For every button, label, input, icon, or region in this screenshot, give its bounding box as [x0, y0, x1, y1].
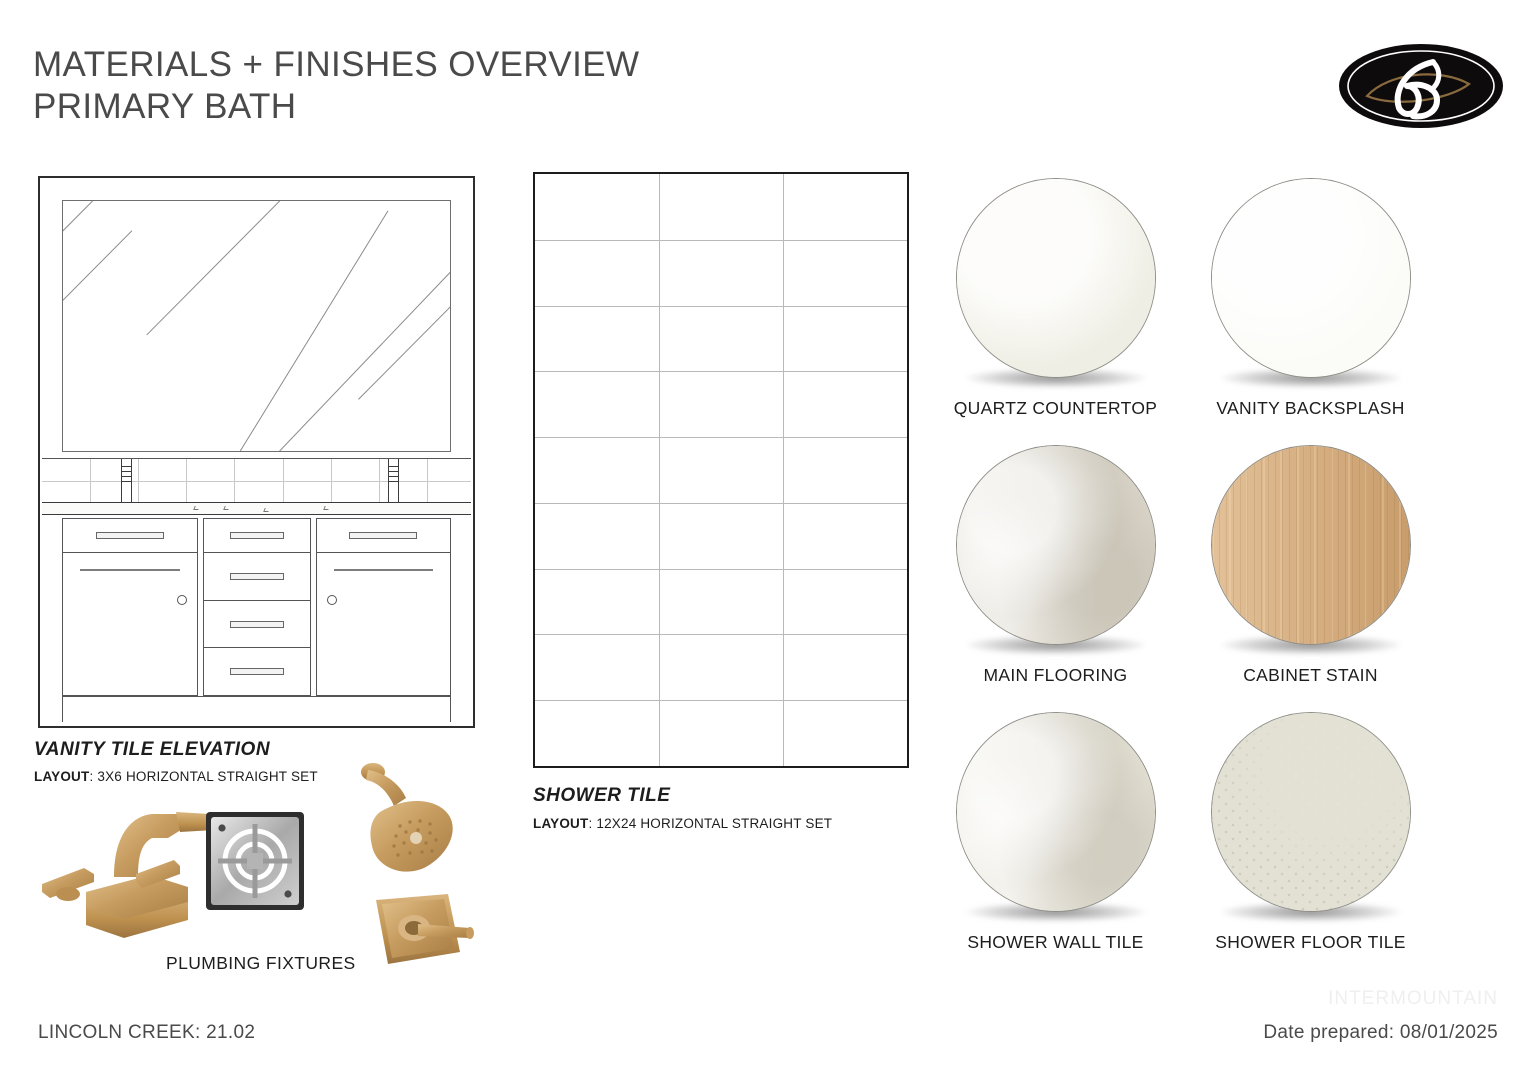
- shower-layout-note: LAYOUT: 12X24 HORIZONTAL STRAIGHT SET: [533, 816, 832, 831]
- swatch-shower-wall-tile-disc[interactable]: [956, 712, 1156, 912]
- swatch-texture: [957, 446, 1155, 644]
- shower-grout-line: [535, 634, 907, 635]
- shower-grout-line: [535, 371, 907, 372]
- swatch-texture: [1212, 179, 1410, 377]
- shower-valve-trim: [376, 894, 474, 964]
- shower-grout-line: [535, 503, 907, 504]
- cabinet-left: [62, 518, 198, 696]
- center-drawer-4: [204, 648, 310, 695]
- shower-tile-drawing: SHOWER TILE LAYOUT: 12X24 HORIZONTAL STR…: [533, 172, 909, 768]
- elevation-frame: [38, 176, 475, 728]
- brand-oval-logo: [1337, 42, 1505, 130]
- swatch-shower-wall-tile-label: SHOWER WALL TILE: [967, 932, 1143, 953]
- backsplash-grout-line: [138, 459, 139, 503]
- swatch-shower-floor-tile-circle-wrap: [1211, 712, 1411, 924]
- faucet-elevation-right: [388, 458, 399, 504]
- swatch-texture: [1212, 446, 1410, 644]
- shower-tile-frame: [533, 172, 909, 768]
- shower-caption: SHOWER TILE: [533, 785, 670, 807]
- shower-grout-line: [659, 174, 660, 766]
- faucet-elevation-left: [121, 458, 132, 504]
- swatch-cabinet-stain-disc[interactable]: [1211, 445, 1411, 645]
- swatch-texture: [957, 179, 1155, 377]
- plumbing-fixtures-label: PLUMBING FIXTURES: [166, 953, 356, 974]
- shower-grout-line: [535, 700, 907, 701]
- backsplash-grout-line: [42, 481, 471, 482]
- swatch-texture: [957, 713, 1155, 911]
- cabinet-center-drawer-stack: [203, 518, 311, 696]
- vanity-mirror: [62, 200, 451, 452]
- swatch-cabinet-stain-circle-wrap: [1211, 445, 1411, 657]
- project-label: LINCOLN CREEK: 21.02: [38, 1022, 255, 1044]
- shower-grout-line: [535, 240, 907, 241]
- shower-layout-value: 12X24 HORIZONTAL STRAIGHT SET: [596, 816, 832, 831]
- drawer-pull: [230, 668, 284, 675]
- page-title: MATERIALS + FINISHES OVERVIEW PRIMARY BA…: [33, 44, 639, 128]
- drawer-pull: [96, 532, 164, 539]
- swatch-quartz-countertop-disc[interactable]: [956, 178, 1156, 378]
- vanity-tile-elevation-drawing: [38, 176, 475, 728]
- plumbing-fixtures-svg: [28, 752, 488, 982]
- cabinet-right-top-drawer: [317, 519, 451, 553]
- material-swatch-grid: QUARTZ COUNTERTOPVANITY BACKSPLASHMAIN F…: [948, 178, 1418, 953]
- door-panel: [334, 569, 434, 571]
- drawer-pull: [230, 532, 284, 539]
- backsplash-grout-line: [90, 459, 91, 503]
- swatch-main-flooring-label: MAIN FLOORING: [984, 665, 1128, 686]
- cabinet-right: [316, 518, 452, 696]
- vanity-toe-kick: [62, 696, 451, 722]
- center-drawer-3: [204, 601, 310, 649]
- shower-layout-key: LAYOUT: [533, 816, 588, 831]
- swatch-cabinet-stain: CABINET STAIN: [1203, 445, 1418, 686]
- square-shower-drain: [206, 812, 304, 910]
- door-knob: [177, 595, 187, 605]
- backsplash-grout-line: [234, 459, 235, 503]
- brand-logo-svg: [1337, 42, 1505, 130]
- center-drawer-1: [204, 519, 310, 553]
- swatch-texture: [1212, 713, 1410, 911]
- shower-head: [361, 763, 453, 872]
- lavatory-faucet: [42, 812, 214, 938]
- swatch-shower-floor-tile-label: SHOWER FLOOR TILE: [1215, 932, 1406, 953]
- drawer-pull: [230, 573, 284, 580]
- backsplash-grout-line: [427, 459, 428, 503]
- cabinet-left-top-drawer: [63, 519, 197, 553]
- date-prepared-label: Date prepared: 08/01/2025: [1263, 1022, 1498, 1044]
- center-drawer-2: [204, 553, 310, 601]
- countertop-section: [42, 502, 471, 515]
- swatch-vanity-backsplash-label: VANITY BACKSPLASH: [1216, 398, 1404, 419]
- backsplash-grout-line: [331, 459, 332, 503]
- mirror-reflection-lines: [63, 201, 450, 451]
- backsplash-grout-line: [186, 459, 187, 503]
- backsplash-grout-line: [379, 459, 380, 503]
- door-knob: [327, 595, 337, 605]
- swatch-quartz-countertop-circle-wrap: [956, 178, 1156, 390]
- swatch-quartz-countertop-label: QUARTZ COUNTERTOP: [954, 398, 1157, 419]
- shower-grout-line: [535, 306, 907, 307]
- swatch-shower-wall-tile: SHOWER WALL TILE: [948, 712, 1163, 953]
- swatch-shower-floor-tile: SHOWER FLOOR TILE: [1203, 712, 1418, 953]
- swatch-cabinet-stain-label: CABINET STAIN: [1243, 665, 1378, 686]
- shower-grout-line: [535, 437, 907, 438]
- vanity-cabinet-row: [62, 518, 451, 696]
- swatch-main-flooring: MAIN FLOORING: [948, 445, 1163, 686]
- swatch-vanity-backsplash-disc[interactable]: [1211, 178, 1411, 378]
- swatch-main-flooring-disc[interactable]: [956, 445, 1156, 645]
- drawer-pull: [349, 532, 417, 539]
- swatch-shower-wall-tile-circle-wrap: [956, 712, 1156, 924]
- swatch-vanity-backsplash-circle-wrap: [1211, 178, 1411, 390]
- backsplash-grid: [42, 459, 471, 503]
- swatch-vanity-backsplash: VANITY BACKSPLASH: [1203, 178, 1418, 419]
- watermark: INTERMOUNTAIN: [1328, 988, 1498, 1010]
- door-panel: [80, 569, 180, 571]
- backsplash-tile-band: [42, 458, 471, 504]
- shower-grout-line: [535, 569, 907, 570]
- drawer-pull: [230, 621, 284, 628]
- shower-grout-line: [783, 174, 784, 766]
- swatch-quartz-countertop: QUARTZ COUNTERTOP: [948, 178, 1163, 419]
- swatch-main-flooring-circle-wrap: [956, 445, 1156, 657]
- swatch-shower-floor-tile-disc[interactable]: [1211, 712, 1411, 912]
- plumbing-fixtures-group: [28, 752, 488, 982]
- backsplash-grout-line: [283, 459, 284, 503]
